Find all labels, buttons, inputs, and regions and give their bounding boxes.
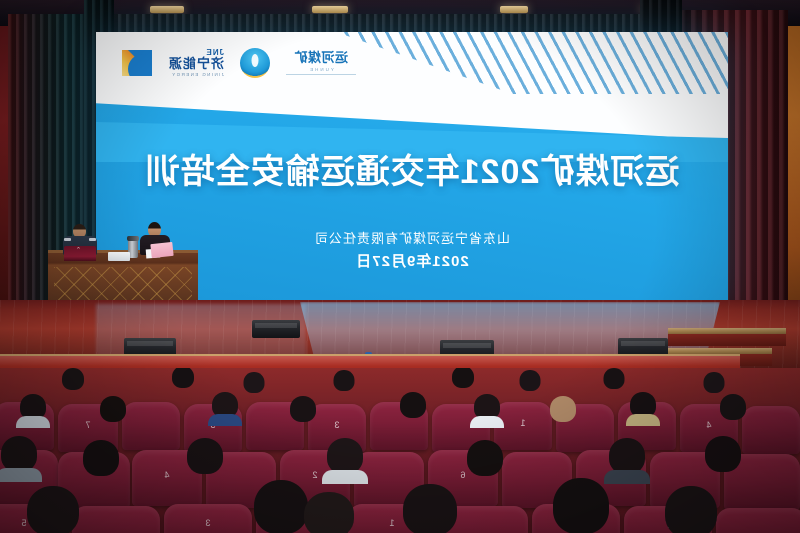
- coal-mine-logo-cn: 运河煤矿: [294, 51, 348, 64]
- ceiling-light-icon: [150, 6, 184, 13]
- attendee: [240, 372, 268, 396]
- attendee: [462, 440, 508, 486]
- attendee-head: [62, 368, 84, 390]
- attendee-foreground: [398, 484, 462, 533]
- logo-row: 运河煤矿 YUNHE JNE 济宁能源 JINING ENERGY: [122, 48, 356, 78]
- attendee-head: [705, 436, 741, 472]
- attendee-head: [704, 372, 725, 393]
- name-placard: [108, 252, 130, 261]
- attendee: [700, 436, 746, 482]
- water-drop-emblem-icon: [240, 48, 270, 78]
- attendee-head: [100, 396, 126, 422]
- attendee-head: [604, 368, 625, 389]
- attendee-head: [609, 438, 645, 474]
- attendee-shoulders: [0, 468, 42, 482]
- attendee: [470, 394, 504, 428]
- logo-divider: [286, 74, 356, 75]
- attendee-head: [665, 486, 717, 533]
- attendee: [626, 392, 660, 426]
- attendee: [546, 396, 580, 430]
- ceiling-light-icon: [500, 6, 528, 13]
- presentation-title: 运河煤矿2021年交通运输安全培训: [96, 144, 728, 193]
- sunrise-square-logo-icon: [122, 50, 152, 76]
- conference-hall-photo: 运河煤矿 YUNHE JNE 济宁能源 JINING ENERGY 运河煤矿20…: [0, 0, 800, 533]
- attendee-head: [27, 486, 79, 533]
- attendee-foreground: [300, 492, 358, 533]
- attendee-foreground: [660, 486, 722, 533]
- attendee: [600, 368, 628, 392]
- attendee-head: [334, 370, 355, 391]
- attendee: [322, 438, 368, 484]
- attendee: [330, 370, 358, 394]
- attendee-head: [467, 440, 503, 476]
- attendee-head: [520, 370, 541, 391]
- laptop-icon: [64, 246, 96, 261]
- attendee: [0, 436, 42, 482]
- attendee: [448, 368, 478, 392]
- attendee: [716, 394, 750, 428]
- attendee-shoulders: [626, 414, 660, 426]
- wall-accent-right: [786, 0, 800, 330]
- ceiling-light-icon: [312, 6, 348, 13]
- presentation-organization: 山东省宁运河煤矿有限责任公司: [96, 228, 728, 247]
- attendee-head: [720, 394, 746, 420]
- attendee-shoulders: [16, 416, 50, 428]
- attendee: [78, 440, 124, 486]
- energy-logo: JNE 济宁能源 JINING ENERGY: [168, 49, 224, 76]
- attendee-shoulders: [470, 416, 504, 428]
- attendee-foreground: [22, 486, 84, 533]
- attendee: [286, 396, 320, 430]
- attendee-head: [187, 438, 223, 474]
- attendee-head: [304, 492, 354, 533]
- floor-monitor-speaker: [252, 320, 300, 338]
- attendee: [58, 368, 88, 394]
- attendee-head: [452, 368, 474, 388]
- energy-logo-en: JINING ENERGY: [171, 72, 224, 77]
- attendee: [168, 368, 198, 392]
- epaulette-right: [89, 238, 96, 241]
- seat[interactable]: [72, 506, 160, 533]
- attendee-head: [403, 484, 457, 533]
- attendee-head: [400, 392, 426, 418]
- seat[interactable]: 3: [164, 504, 252, 533]
- attendee: [516, 370, 544, 394]
- attendee-foreground: [548, 478, 614, 533]
- attendee-shoulders: [208, 414, 242, 426]
- attendee-shoulders: [322, 470, 368, 484]
- epaulette-left: [64, 238, 71, 241]
- coal-mine-logo-en: YUNHE: [308, 67, 334, 72]
- energy-logo-cn: 济宁能源: [168, 57, 224, 71]
- audience-seating-area: 8 7 5 3 1 4: [0, 368, 800, 533]
- attendee-head: [83, 440, 119, 476]
- attendee: [700, 372, 728, 396]
- step-riser: [668, 332, 786, 346]
- attendee-head-balding: [550, 396, 576, 422]
- attendee-head: [327, 438, 363, 474]
- attendee-head: [290, 396, 316, 422]
- attendee-head: [1, 436, 37, 472]
- attendee: [96, 396, 130, 430]
- attendee: [396, 392, 430, 426]
- pink-documents: [150, 242, 173, 258]
- step-tread: [668, 328, 786, 334]
- attendee-head: [244, 372, 265, 393]
- seat[interactable]: [122, 402, 180, 450]
- seat[interactable]: [716, 508, 800, 533]
- coal-mine-logo: 运河煤矿 YUNHE: [286, 51, 356, 75]
- seat-number: 3: [164, 518, 252, 528]
- attendee: [208, 392, 242, 426]
- seat[interactable]: [742, 406, 800, 454]
- apron-highlight: [0, 356, 740, 366]
- attendee: [182, 438, 228, 484]
- attendee-head: [172, 368, 194, 388]
- attendee-head: [553, 478, 609, 533]
- attendee: [16, 394, 50, 428]
